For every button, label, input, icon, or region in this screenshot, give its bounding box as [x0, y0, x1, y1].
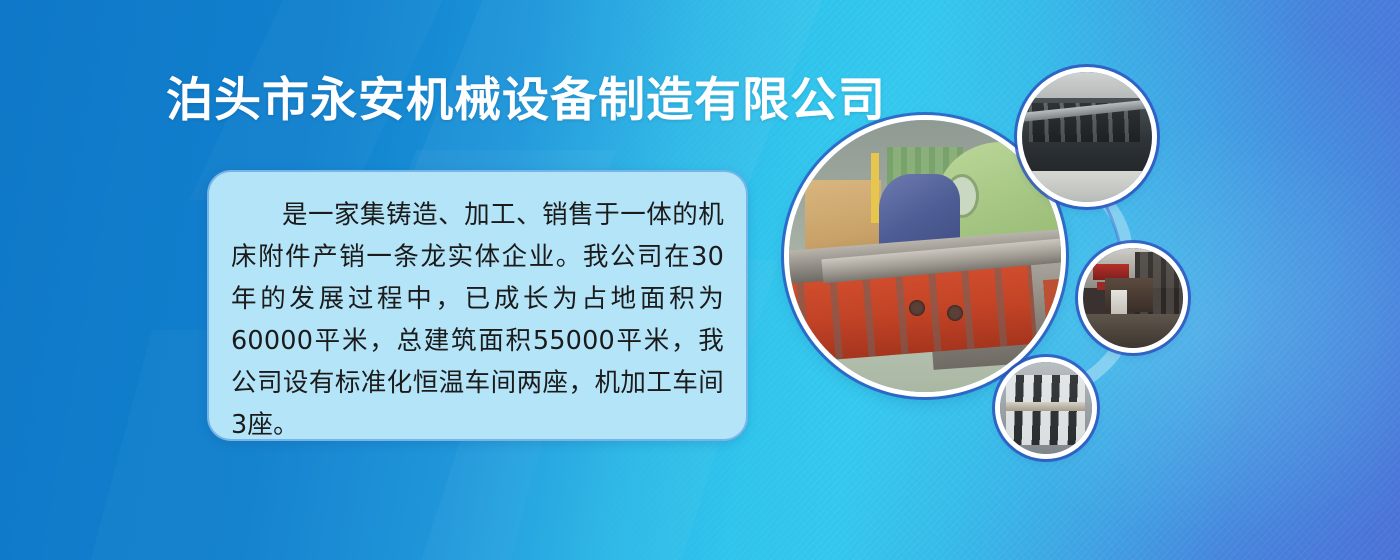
photo-ribbed-casting-image: [1000, 362, 1092, 454]
photo-machine-bed-casting[interactable]: [789, 120, 1061, 392]
page-title: 泊头市永安机械设备制造有限公司: [166, 74, 886, 127]
company-banner: 泊头市永安机械设备制造有限公司 是一家集铸造、加工、销售于一体的机床附件产销一条…: [0, 0, 1400, 560]
photo-ribbed-casting[interactable]: [1000, 362, 1092, 454]
photo-dark-casting-frame[interactable]: [1022, 72, 1152, 202]
photo-machine-bed-casting-image: [789, 120, 1061, 392]
company-description-text: 是一家集铸造、加工、销售于一体的机床附件产销一条龙实体企业。我公司在30年的发展…: [231, 194, 724, 446]
photo-workshop-interior[interactable]: [1083, 248, 1183, 348]
company-description-card: 是一家集铸造、加工、销售于一体的机床附件产销一条龙实体企业。我公司在30年的发展…: [207, 170, 748, 441]
photo-dark-casting-frame-image: [1022, 72, 1152, 202]
photo-workshop-interior-image: [1083, 248, 1183, 348]
